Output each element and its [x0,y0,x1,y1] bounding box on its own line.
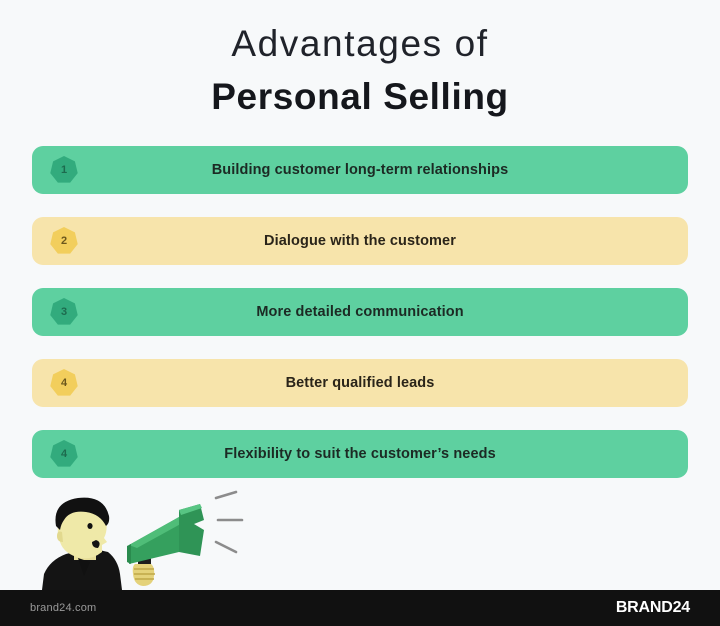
megaphone-rim-icon [127,544,131,564]
item-number-badge: 4 [50,369,78,397]
item-number-badge: 2 [50,227,78,255]
man-eye-icon [87,523,92,529]
title-line-2: Personal Selling [0,74,720,120]
footer-url[interactable]: brand24.com [30,602,96,614]
footer-bar: brand24.com BRAND24 [0,590,720,626]
list-item-label: Dialogue with the customer [204,233,516,249]
man-ear-icon [57,532,63,543]
page-title: Advantages of Personal Selling [0,22,720,120]
man-with-megaphone-illustration [34,490,284,590]
list-item-label: Better qualified leads [226,375,495,391]
list-item[interactable]: 2 Dialogue with the customer [32,217,688,265]
list-item-label: Flexibility to suit the customer’s needs [164,446,556,462]
item-number-badge: 3 [50,298,78,326]
infographic-canvas: Advantages of Personal Selling 1 Buildin… [0,0,720,626]
list-item[interactable]: 3 More detailed communication [32,288,688,336]
hand-icon [133,564,154,586]
advantages-list: 1 Building customer long-term relationsh… [32,146,688,478]
list-item-label: Building customer long-term relationship… [152,162,569,178]
item-number-badge: 1 [50,156,78,184]
list-item[interactable]: 4 Flexibility to suit the customer’s nee… [32,430,688,478]
title-line-1: Advantages of [0,22,720,66]
list-item-label: More detailed communication [196,304,523,320]
list-item[interactable]: 1 Building customer long-term relationsh… [32,146,688,194]
list-item[interactable]: 4 Better qualified leads [32,359,688,407]
sound-lines-icon [216,492,242,552]
item-number-badge: 4 [50,440,78,468]
brand-logo: BRAND24 [616,599,690,617]
